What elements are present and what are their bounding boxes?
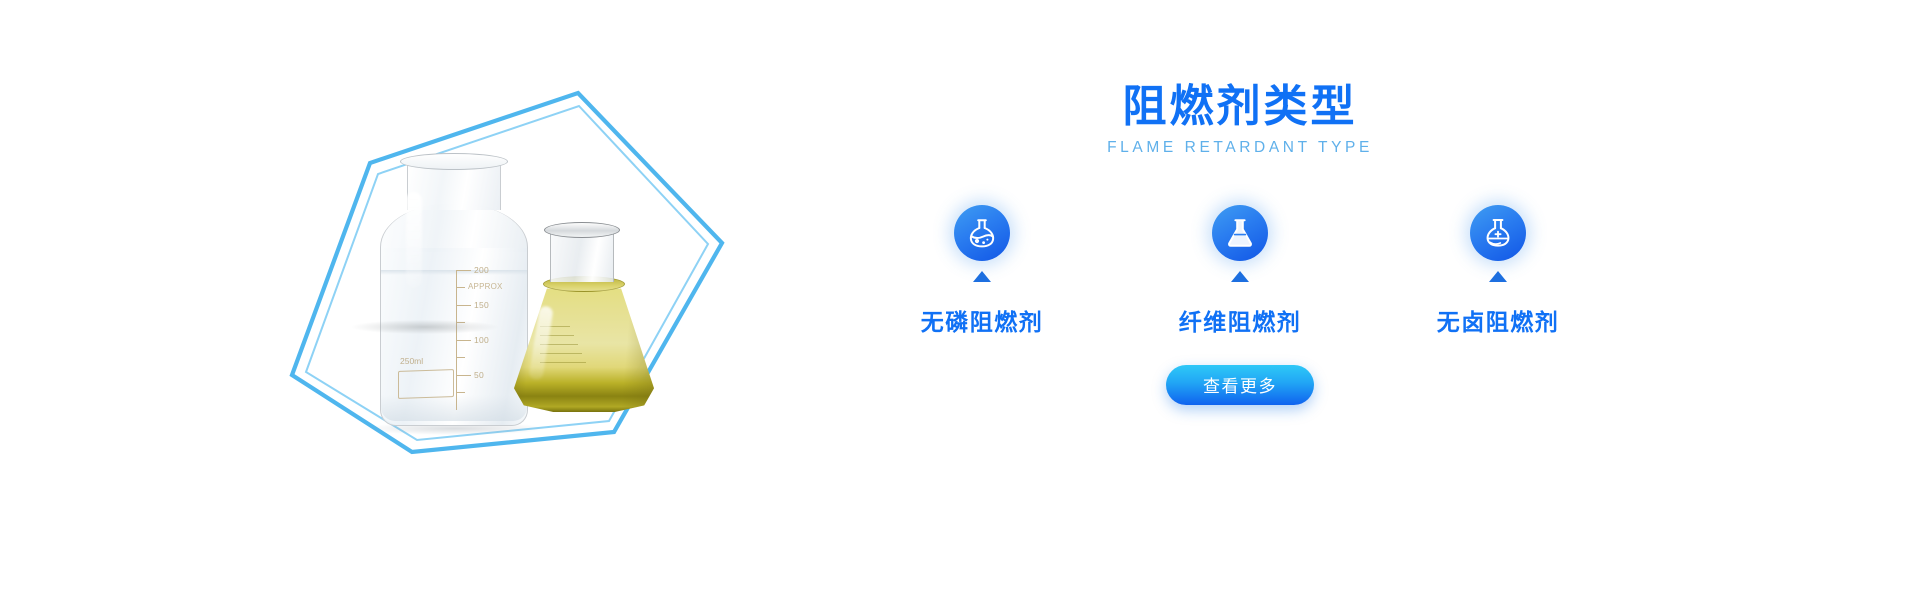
- flask-shadow: [352, 320, 498, 334]
- feature-list: 无磷阻燃剂 纤维阻燃剂: [860, 205, 1620, 337]
- bottle-graduation-scale: 200 APPROX 150 100 50: [456, 270, 520, 410]
- content-column: 阻燃剂类型 FLAME RETARDANT TYPE: [860, 80, 1620, 520]
- feature-label: 无磷阻燃剂: [907, 303, 1057, 337]
- reagent-bottle: 200 APPROX 150 100 50 250ml: [378, 158, 530, 430]
- feature-label: 无卤阻燃剂: [1423, 303, 1573, 337]
- erlenmeyer-flask: [514, 222, 654, 430]
- conical-flask-icon: [1212, 205, 1268, 261]
- scale-number-100: 100: [474, 336, 489, 345]
- view-more-button[interactable]: 查看更多: [1166, 365, 1314, 405]
- bottle-volume-label: 250ml: [400, 356, 423, 366]
- cta-row: 查看更多: [860, 365, 1620, 405]
- feature-item-fiber[interactable]: 纤维阻燃剂: [1165, 205, 1315, 337]
- product-visual-stage: 200 APPROX 150 100 50 250ml: [270, 30, 730, 480]
- scale-tick: [456, 357, 465, 358]
- flask-lip: [544, 222, 620, 238]
- feature-item-phosphorus-free[interactable]: 无磷阻燃剂: [907, 205, 1057, 337]
- pointer-triangle-icon: [1489, 271, 1507, 282]
- icon-wrap: [954, 205, 1010, 261]
- pointer-triangle-icon: [973, 271, 991, 282]
- scale-tick: [456, 287, 465, 288]
- flame-retardant-banner: 200 APPROX 150 100 50 250ml: [0, 0, 1920, 600]
- icon-wrap: [1470, 205, 1526, 261]
- scale-number-200: 200: [474, 266, 489, 275]
- product-photo: 200 APPROX 150 100 50 250ml: [348, 130, 668, 440]
- page-subtitle: FLAME RETARDANT TYPE: [1030, 139, 1450, 157]
- heading-group: 阻燃剂类型 FLAME RETARDANT TYPE: [1030, 80, 1450, 157]
- feature-label: 纤维阻燃剂: [1165, 303, 1315, 337]
- flask-plus-icon: [1470, 205, 1526, 261]
- bottle-shoulder: [380, 204, 528, 252]
- pointer-triangle-icon: [1231, 271, 1249, 282]
- scale-tick: [456, 305, 471, 306]
- round-flask-bubbles-icon: [954, 205, 1010, 261]
- scale-tick: [456, 340, 471, 341]
- feature-item-halogen-free[interactable]: 无卤阻燃剂: [1423, 205, 1573, 337]
- scale-number-50: 50: [474, 371, 484, 380]
- scale-tick: [456, 375, 471, 376]
- bottle-label-box: [398, 369, 454, 399]
- scale-approx-label: APPROX: [468, 282, 503, 291]
- scale-number-150: 150: [474, 301, 489, 310]
- icon-wrap: [1212, 205, 1268, 261]
- scale-tick: [456, 392, 465, 393]
- bottle-lip: [400, 153, 508, 170]
- scale-tick: [456, 270, 471, 271]
- page-title: 阻燃剂类型: [1030, 80, 1450, 134]
- bottle-highlight: [406, 192, 422, 288]
